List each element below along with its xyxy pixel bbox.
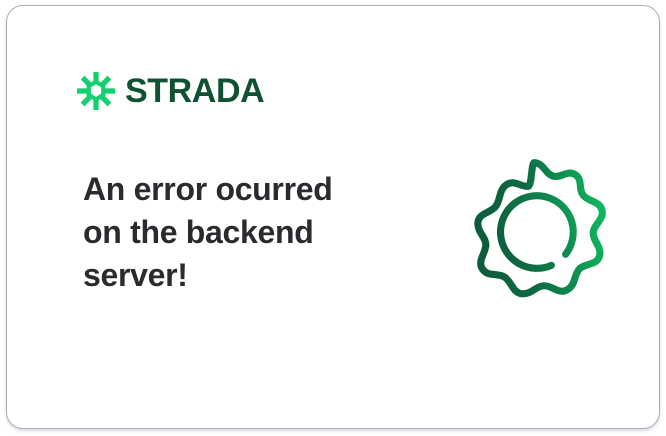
brand-logo: STRADA xyxy=(77,72,264,110)
strada-asterisk-icon xyxy=(77,72,115,110)
error-message: An error ocurred on the backend server! xyxy=(83,168,383,297)
error-card: STRADA An error ocurred on the backend s… xyxy=(6,5,660,429)
error-message-line: on the backend xyxy=(83,211,383,254)
gear-icon xyxy=(455,149,613,309)
error-message-line: server! xyxy=(83,254,383,297)
error-message-line: An error ocurred xyxy=(83,168,383,211)
brand-wordmark: STRADA xyxy=(125,74,264,108)
